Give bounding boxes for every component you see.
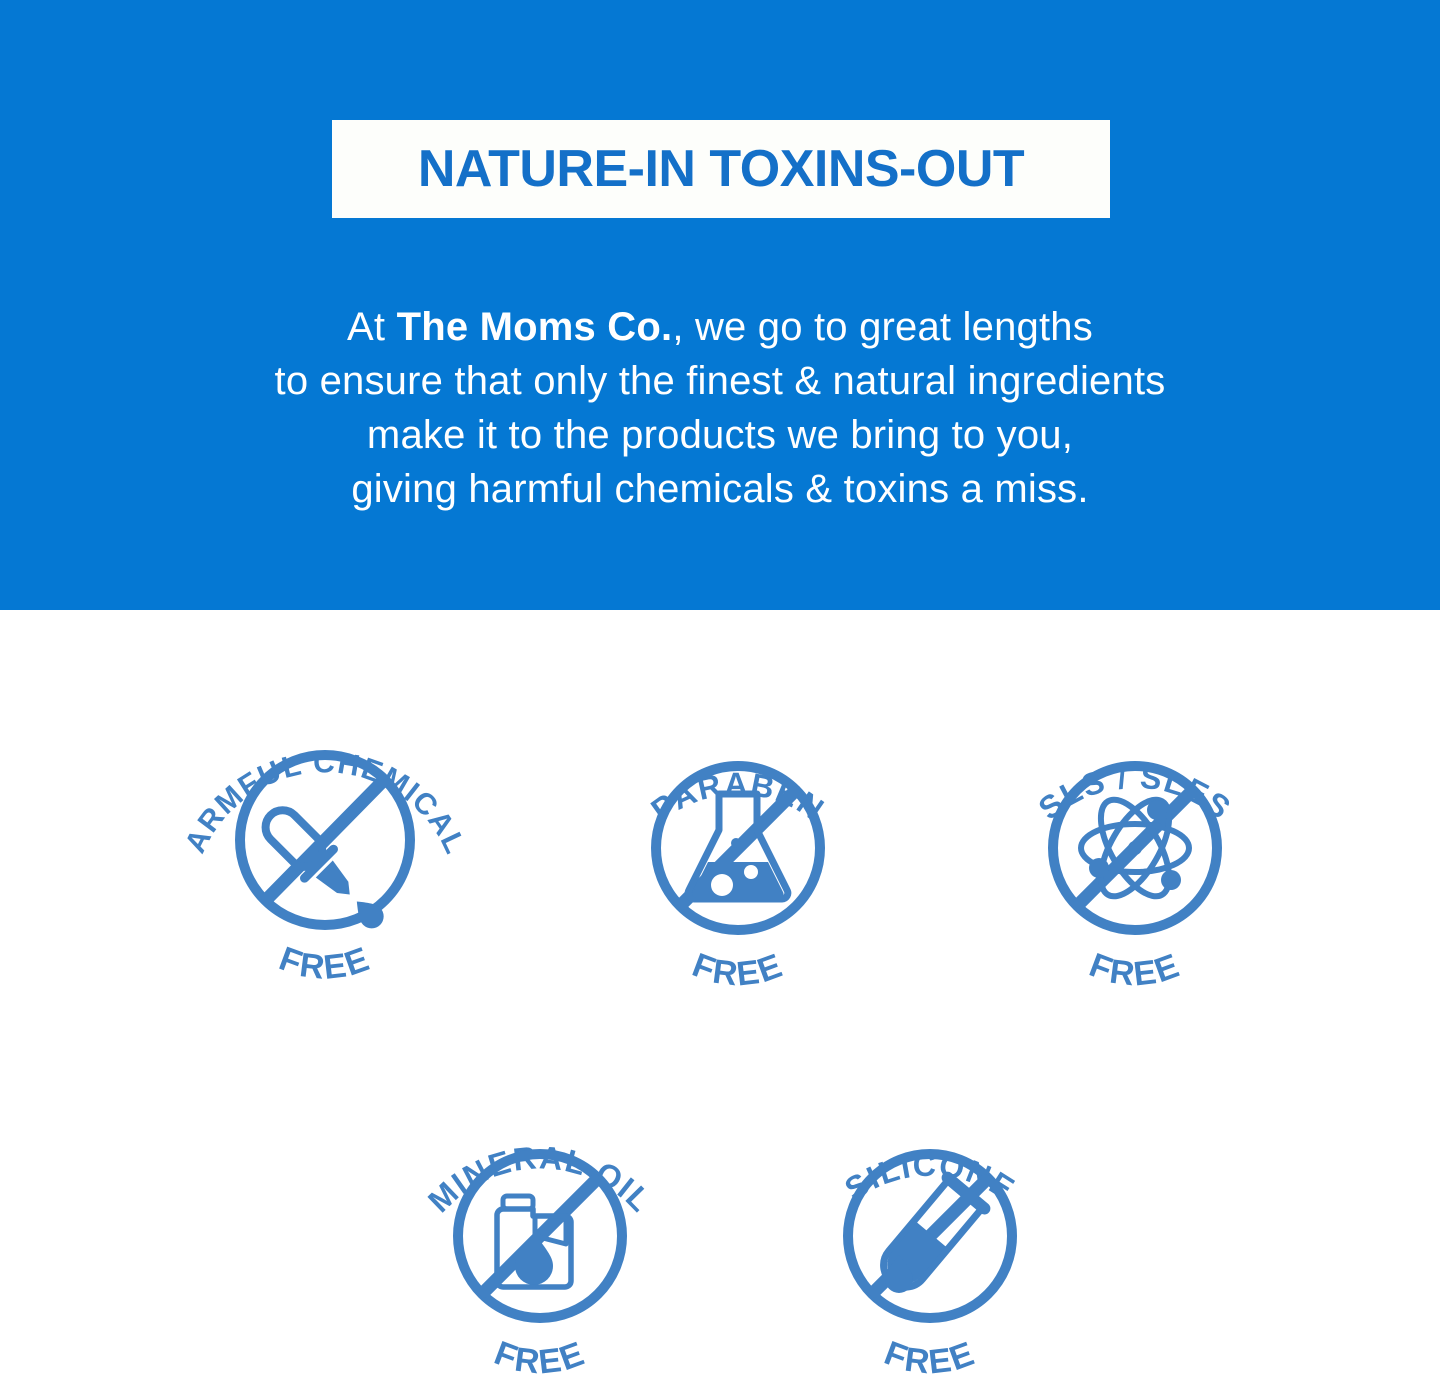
badge-bottom-label: FREE	[1084, 946, 1185, 994]
badge-bottom-label: FREE	[687, 946, 788, 994]
badge-sls-sles-free: SLS / SLES FREE	[985, 690, 1285, 1000]
title-banner: NATURE-IN TOXINS-OUT	[332, 120, 1110, 218]
brand-name: The Moms Co.	[397, 305, 673, 349]
badge-harmful-chemicals-free: HARMFUL CHEMICALS FREE	[175, 680, 475, 990]
badge-paraben-free: PARABEN FREE	[588, 690, 888, 1000]
badge-bottom-label: FREE	[489, 1334, 590, 1378]
hero-section: NATURE-IN TOXINS-OUT At The Moms Co., we…	[0, 0, 1440, 610]
paragraph-line-2: to ensure that only the finest & natural…	[0, 354, 1440, 408]
badge-silicone-free: SILICONE FREE	[780, 1078, 1080, 1378]
badge-bottom-label: FREE	[274, 940, 375, 987]
paragraph-line-3: make it to the products we bring to you,	[0, 408, 1440, 462]
page-root: NATURE-IN TOXINS-OUT At The Moms Co., we…	[0, 0, 1440, 1378]
badge-bottom-label: FREE	[879, 1334, 980, 1378]
paragraph-line-1-rest: , we go to great lengths	[672, 305, 1093, 349]
paragraph-line-1: At The Moms Co., we go to great lengths	[0, 300, 1440, 354]
page-title: NATURE-IN TOXINS-OUT	[418, 143, 1024, 195]
paragraph-line-4: giving harmful chemicals & toxins a miss…	[0, 462, 1440, 516]
hero-paragraph: At The Moms Co., we go to great lengths …	[0, 300, 1440, 516]
badge-mineral-oil-free: MINERAL OIL FREE	[390, 1078, 690, 1378]
paragraph-lead: At	[347, 305, 397, 349]
